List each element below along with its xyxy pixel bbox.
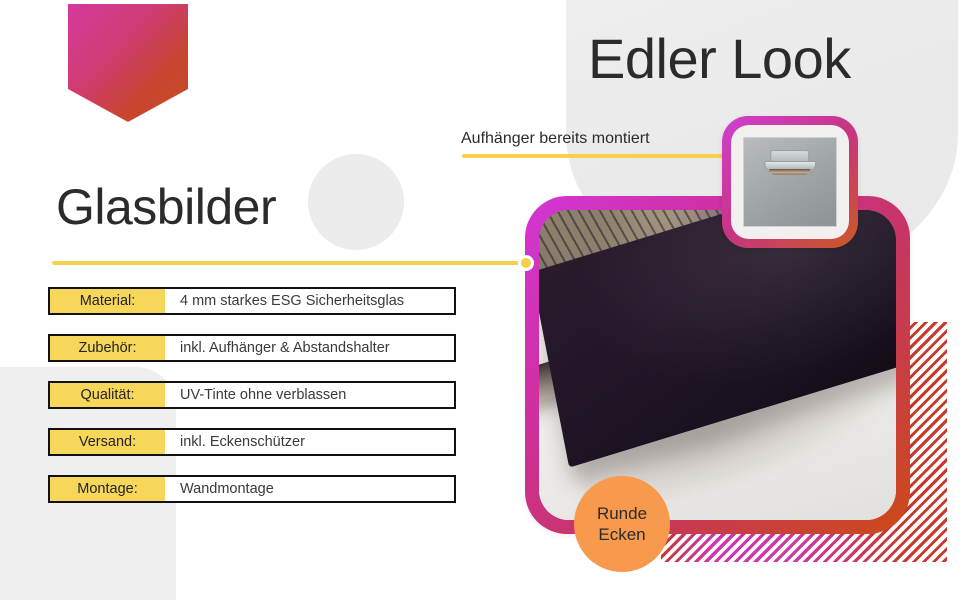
product-image bbox=[539, 210, 896, 520]
product-image-frame bbox=[525, 196, 910, 534]
spec-key: Montage: bbox=[50, 477, 165, 501]
spec-value: inkl. Eckenschützer bbox=[165, 430, 454, 454]
decor-circle-left bbox=[308, 154, 404, 250]
spec-row: Montage: Wandmontage bbox=[48, 475, 456, 503]
connector-dot-icon bbox=[518, 255, 534, 271]
spec-value: 4 mm starkes ESG Sicherheitsglas bbox=[165, 289, 454, 313]
spec-row: Versand: inkl. Eckenschützer bbox=[48, 428, 456, 456]
status-badge-runde-ecken: Runde Ecken bbox=[574, 476, 670, 572]
spec-row: Material: 4 mm starkes ESG Sicherheitsgl… bbox=[48, 287, 456, 315]
callout-label-hanger: Aufhänger bereits montiert bbox=[461, 130, 650, 148]
badge-line-1: Runde bbox=[597, 503, 647, 524]
spec-key: Qualität: bbox=[50, 383, 165, 407]
glasbild-corner-photo bbox=[539, 210, 896, 520]
wall-hanger-icon bbox=[764, 150, 816, 176]
page-title-right: Edler Look bbox=[588, 26, 851, 91]
spec-key: Material: bbox=[50, 289, 165, 313]
connector-bar bbox=[462, 154, 728, 158]
connector-bar bbox=[52, 261, 520, 265]
wall-hanger-closeup-photo bbox=[743, 137, 837, 227]
spec-value: inkl. Aufhänger & Abstandshalter bbox=[165, 336, 454, 360]
page-title-left: Glasbilder bbox=[56, 178, 276, 236]
spec-row: Qualität: UV-Tinte ohne verblassen bbox=[48, 381, 456, 409]
spec-value: Wandmontage bbox=[165, 477, 454, 501]
poster-canvas: Edler Look Glasbilder Aufhänger bereits … bbox=[0, 0, 970, 600]
hanger-slot bbox=[769, 169, 810, 175]
spec-value: UV-Tinte ohne verblassen bbox=[165, 383, 454, 407]
shield-banner-logo-icon bbox=[68, 4, 188, 122]
spec-key: Versand: bbox=[50, 430, 165, 454]
spec-key: Zubehör: bbox=[50, 336, 165, 360]
hanger-detail-inset bbox=[722, 116, 858, 248]
spec-table: Material: 4 mm starkes ESG Sicherheitsgl… bbox=[48, 287, 456, 503]
spec-row: Zubehör: inkl. Aufhänger & Abstandshalte… bbox=[48, 334, 456, 362]
inset-white-mat bbox=[731, 125, 849, 239]
badge-line-2: Ecken bbox=[598, 524, 645, 545]
